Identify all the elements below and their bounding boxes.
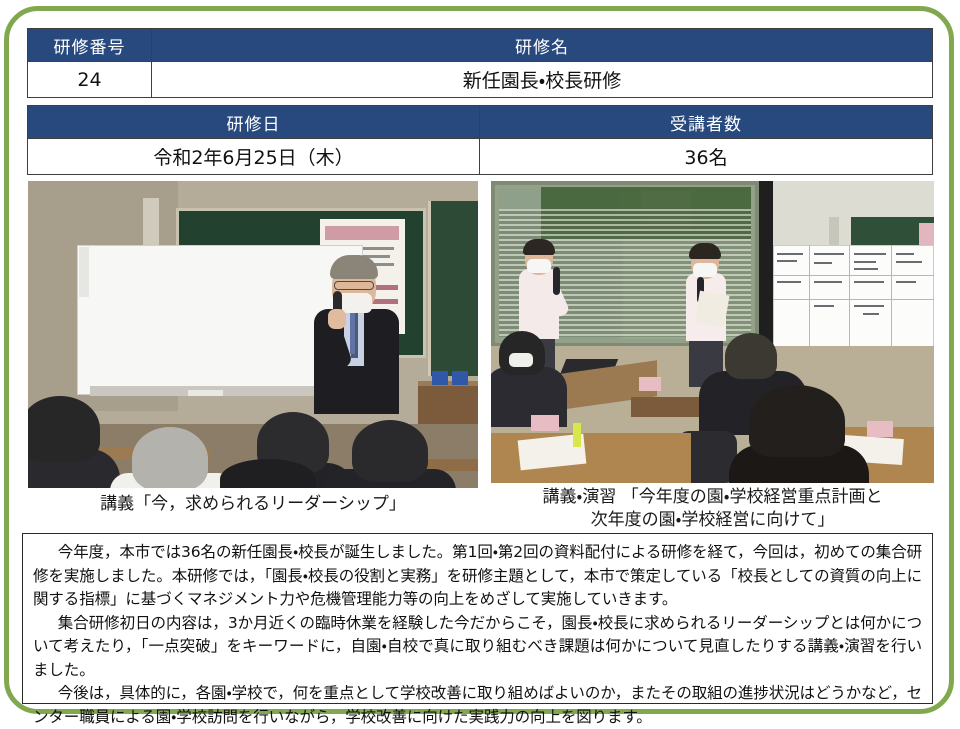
photo-wall-pillar bbox=[143, 198, 159, 248]
photo-whiteboard-writing bbox=[777, 281, 801, 283]
photo-presenter-handout bbox=[694, 291, 729, 328]
description-paragraph-1: 今年度，本市では36名の新任園長・校長が誕生しました。第1回・第2回の資料配付に… bbox=[33, 541, 922, 612]
photo-whiteboard-writing bbox=[854, 253, 886, 255]
photo-whiteboard-gridline bbox=[891, 245, 892, 350]
lecture-photo-caption: 講義「今，求められるリーダーシップ」 bbox=[28, 493, 478, 516]
photo-whiteboard-writing bbox=[854, 261, 876, 263]
photo-participant-head bbox=[749, 385, 845, 457]
report-content: 研修番号 研修名 24 新任園長・校長研修 研修日 受講者数 令和2年6月25日… bbox=[0, 0, 960, 720]
photo-whiteboard-writing bbox=[854, 281, 884, 283]
photo-presenter-mask bbox=[527, 259, 551, 273]
photo-whiteboard-gridline bbox=[773, 299, 934, 300]
photo-marker-pen bbox=[573, 423, 581, 447]
photo-whiteboard-gridline bbox=[773, 275, 934, 276]
photo-presenter-hair bbox=[689, 243, 721, 259]
photo-name-card bbox=[867, 421, 893, 437]
photo-whiteboard-writing bbox=[896, 261, 922, 263]
header-training-name: 研修名 bbox=[152, 29, 933, 62]
photo-whiteboard-shadow bbox=[79, 247, 89, 297]
photo-chalkboard-right bbox=[428, 201, 478, 376]
photo-whiteboard-writing bbox=[854, 305, 884, 307]
lecture-photo bbox=[28, 181, 478, 488]
photo-presenter-mask bbox=[693, 263, 717, 277]
photo-speaker-glasses bbox=[334, 281, 374, 290]
photo-whiteboard-writing bbox=[814, 253, 844, 255]
photo-whiteboard-writing bbox=[814, 262, 832, 264]
photo-whiteboard-writing bbox=[896, 281, 916, 283]
header-training-number: 研修番号 bbox=[28, 29, 152, 62]
table-header-row: 研修日 受講者数 bbox=[28, 106, 933, 139]
photo-whiteboard-writing bbox=[814, 305, 834, 307]
training-summary-table-bottom: 研修日 受講者数 令和2年6月25日（木） 36名 bbox=[27, 105, 933, 175]
header-participant-count: 受講者数 bbox=[480, 106, 933, 139]
photo-whiteboard-writing bbox=[814, 281, 842, 283]
photo-name-card bbox=[639, 377, 661, 391]
photo-wall-panel bbox=[432, 371, 448, 385]
photo-speaker-hair bbox=[330, 255, 378, 279]
table-value-row: 24 新任園長・校長研修 bbox=[28, 62, 933, 98]
training-summary-table-top: 研修番号 研修名 24 新任園長・校長研修 bbox=[27, 28, 933, 98]
value-training-number: 24 bbox=[28, 62, 152, 98]
description-paragraph-3: 今後は，具体的に，各園・学校で，何を重点として学校改善に取り組めばよいのか，また… bbox=[33, 682, 922, 729]
workshop-photo bbox=[491, 181, 934, 483]
value-participant-count: 36名 bbox=[480, 139, 933, 175]
photo-wall-card bbox=[919, 223, 934, 245]
photo-speaker-hand bbox=[328, 309, 346, 329]
photo-side-desk bbox=[418, 386, 478, 424]
header-training-date: 研修日 bbox=[28, 106, 480, 139]
description-paragraph-2: 集合研修初日の内容は，3か月近くの臨時休業を経験した今だからこそ，園長・校長に求… bbox=[33, 612, 922, 683]
photo-whiteboard-writing bbox=[777, 253, 803, 255]
photo-presenter-hair bbox=[523, 239, 555, 255]
photo-whiteboard-gridline bbox=[809, 245, 810, 350]
description-box: 今年度，本市では36名の新任園長・校長が誕生しました。第1回・第2回の資料配付に… bbox=[22, 533, 933, 704]
photo-presenter-microphone bbox=[553, 267, 560, 295]
workshop-photo-caption: 講義・演習 「今年度の園・学校経営重点計画と 次年度の園・学校経営に向けて」 bbox=[491, 486, 934, 532]
value-training-name: 新任園長・校長研修 bbox=[152, 62, 933, 98]
photo-whiteboard-writing bbox=[896, 253, 914, 255]
report-page: 研修番号 研修名 24 新任園長・校長研修 研修日 受講者数 令和2年6月25日… bbox=[0, 0, 960, 720]
photo-poster-title bbox=[325, 226, 399, 240]
photo-whiteboard-writing bbox=[863, 313, 879, 315]
table-value-row: 令和2年6月25日（木） 36名 bbox=[28, 139, 933, 175]
photo-whiteboard-writing bbox=[777, 260, 797, 262]
photo-audience-head bbox=[352, 420, 428, 482]
table-header-row: 研修番号 研修名 bbox=[28, 29, 933, 62]
photo-tray-item bbox=[188, 390, 223, 396]
photo-whiteboard-gridline bbox=[849, 245, 850, 350]
photo-audience-head bbox=[132, 427, 208, 488]
photo-wall-column bbox=[759, 181, 773, 353]
photo-name-card bbox=[531, 415, 559, 431]
photo-participant-head bbox=[725, 333, 777, 379]
photo-participant-mask bbox=[509, 353, 533, 367]
photo-audience-head bbox=[28, 396, 100, 462]
photo-wall-panel bbox=[452, 371, 468, 385]
photo-speaker-lanyard bbox=[350, 312, 355, 354]
value-training-date: 令和2年6月25日（木） bbox=[28, 139, 480, 175]
photo-whiteboard-writing bbox=[854, 268, 878, 270]
